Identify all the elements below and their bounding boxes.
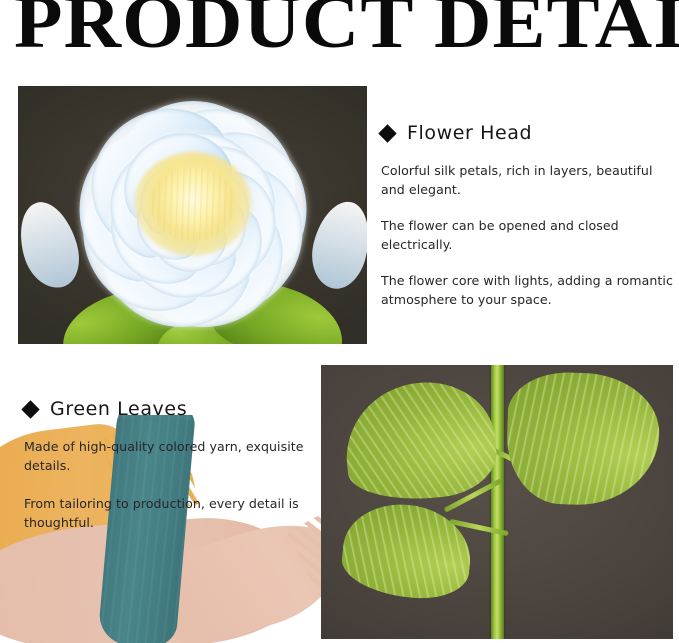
green-leaves-paragraph-1: Made of high-quality colored yarn, exqui… xyxy=(24,437,324,475)
flower-head-paragraph-1: Colorful silk petals, rich in layers, be… xyxy=(381,161,673,199)
flower-core-ruffle xyxy=(150,167,236,241)
diamond-bullet-icon xyxy=(378,124,396,142)
green-leaves-heading: Green Leaves xyxy=(24,398,324,420)
flower-head-paragraph-2: The flower can be opened and closed elec… xyxy=(381,216,673,254)
section-flower-head: Flower Head Colorful silk petals, rich i… xyxy=(381,122,673,309)
flower-bloom xyxy=(28,101,358,329)
flower-petal-side-left xyxy=(18,196,87,295)
flower-head-paragraph-3: The flower core with lights, adding a ro… xyxy=(381,271,673,309)
leaves-main-stem xyxy=(491,365,504,639)
flower-photo xyxy=(18,86,367,344)
green-leaves-heading-label: Green Leaves xyxy=(50,398,187,420)
section-green-leaves: Green Leaves Made of high-quality colore… xyxy=(24,398,324,551)
diamond-bullet-icon xyxy=(21,400,39,418)
flower-head-heading-label: Flower Head xyxy=(407,122,532,144)
flower-head-heading: Flower Head xyxy=(381,122,673,144)
green-leaves-paragraph-2: From tailoring to production, every deta… xyxy=(24,494,324,532)
flower-petal-side-right xyxy=(304,196,367,294)
page-title: PRODUCT DETAILS xyxy=(14,0,679,58)
leaves-photo xyxy=(321,365,673,639)
